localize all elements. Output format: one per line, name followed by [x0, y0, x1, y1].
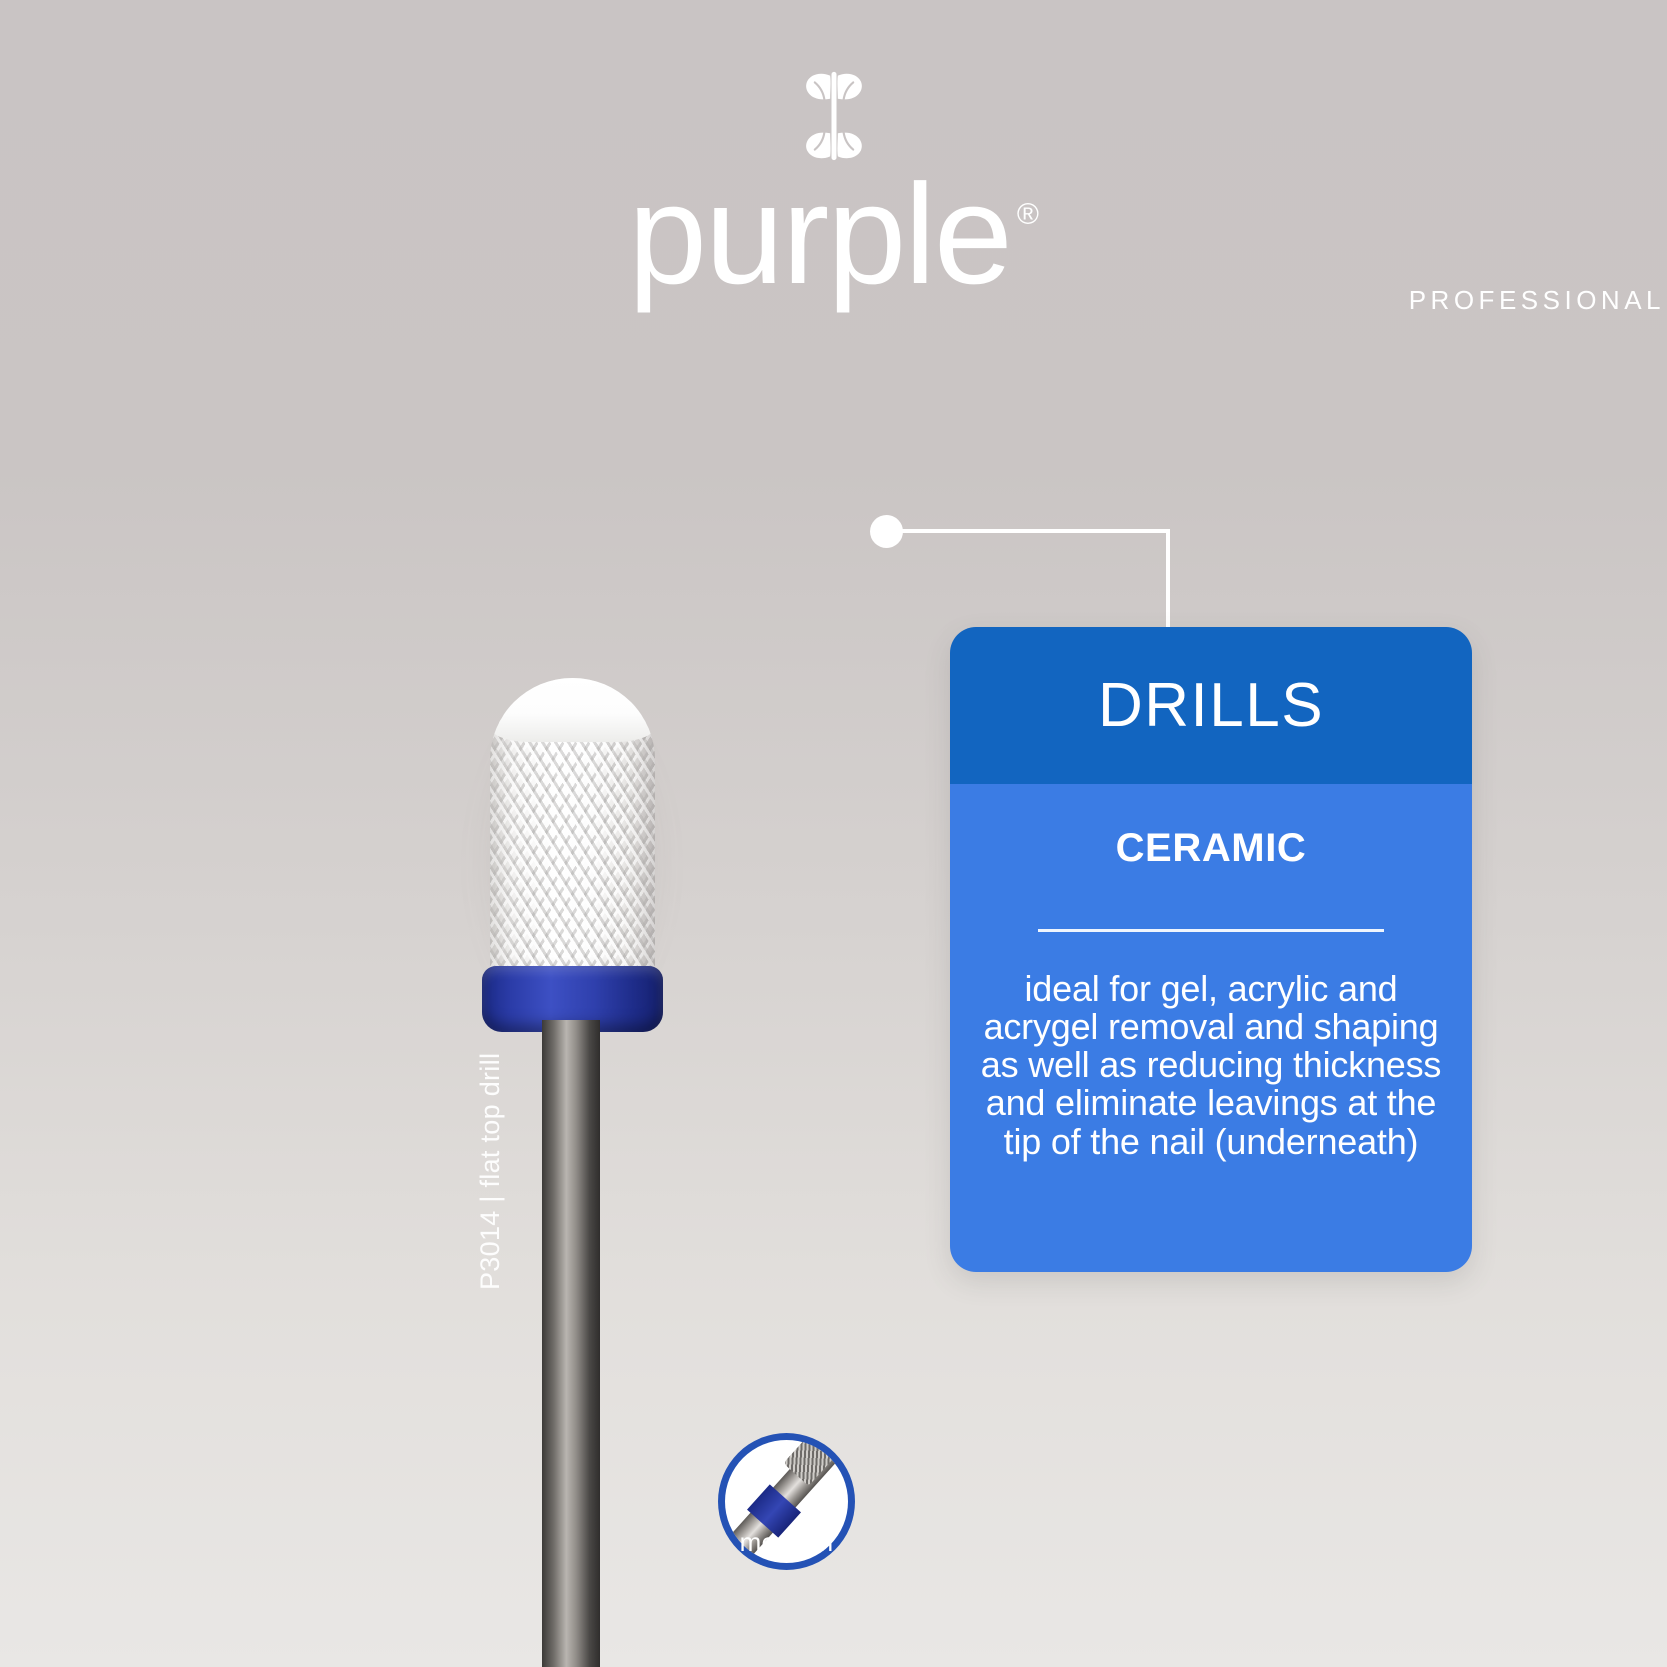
- card-description: ideal for gel, acrylic and acrygel remov…: [980, 970, 1442, 1161]
- ceramic-bit-head: [490, 678, 655, 978]
- callout-connector: [860, 495, 1200, 645]
- description-line: ideal for gel, acrylic and: [980, 970, 1442, 1008]
- description-line: acrygel removal and shaping: [980, 1008, 1442, 1046]
- grit-level-label: medium: [718, 1522, 855, 1562]
- brand-wordmark: purple ®: [628, 180, 1039, 291]
- card-header: DRILLS: [950, 627, 1472, 784]
- callout-horizontal-line: [900, 529, 1170, 533]
- description-line: as well as reducing thickness: [980, 1046, 1442, 1084]
- steel-shank: [542, 1020, 600, 1667]
- grit-badge: medium: [718, 1433, 855, 1570]
- crosshatch-texture: [490, 716, 655, 978]
- brand-tagline: PROFESSIONAL: [1409, 285, 1665, 316]
- card-body: CERAMIC ideal for gel, acrylic and acryg…: [950, 784, 1472, 1272]
- clover-logo-icon: [786, 68, 882, 164]
- bit-dome-top: [490, 678, 655, 742]
- description-line: tip of the nail (underneath): [980, 1123, 1442, 1161]
- description-line: and eliminate leavings at the: [980, 1084, 1442, 1122]
- badge-ring: medium: [718, 1433, 855, 1570]
- card-divider: [1038, 929, 1384, 932]
- callout-dot-icon: [870, 515, 903, 548]
- poster-canvas: purple ® PROFESSIONAL P3014 | flat top d…: [0, 0, 1667, 1667]
- product-info-card: DRILLS CERAMIC ideal for gel, acrylic an…: [950, 627, 1472, 1272]
- brand-name: purple: [628, 180, 1011, 291]
- brand-logo: purple ® PROFESSIONAL: [0, 68, 1667, 316]
- product-code-label: P3014 | flat top drill: [460, 960, 520, 1290]
- card-material-label: CERAMIC: [1116, 826, 1307, 871]
- card-category-title: DRILLS: [1098, 670, 1324, 741]
- registered-trademark-icon: ®: [1017, 198, 1039, 232]
